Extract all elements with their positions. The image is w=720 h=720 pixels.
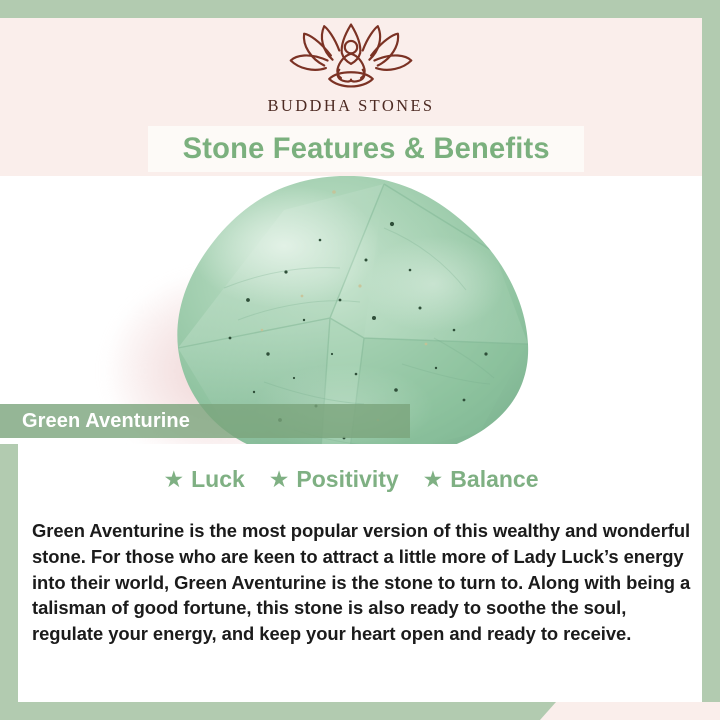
stone-description: Green Aventurine is the most popular ver… bbox=[32, 518, 692, 646]
star-icon: ★ bbox=[269, 468, 290, 491]
brand-wordmark: BUDDHA STONES bbox=[267, 96, 434, 116]
frame-right-accent bbox=[702, 0, 720, 720]
page-title: Stone Features & Benefits bbox=[182, 132, 549, 166]
brand-logo: BUDDHA STONES bbox=[0, 22, 702, 122]
frame-bottom-accent-overlay bbox=[0, 702, 556, 720]
star-icon: ★ bbox=[163, 468, 184, 491]
benefit-label: Balance bbox=[450, 466, 538, 493]
benefit-item-positivity: ★ Positivity bbox=[269, 466, 399, 493]
benefit-label: Positivity bbox=[296, 466, 398, 493]
section-title-band: Stone Features & Benefits bbox=[148, 126, 584, 172]
stone-name: Green Aventurine bbox=[0, 410, 190, 433]
benefit-item-balance: ★ Balance bbox=[423, 466, 539, 493]
star-icon: ★ bbox=[423, 468, 444, 491]
benefit-item-luck: ★ Luck bbox=[163, 466, 244, 493]
stone-name-ribbon: Green Aventurine bbox=[0, 404, 410, 438]
stone-feature-card: BUDDHA STONES Stone Features & Benefits bbox=[0, 0, 720, 720]
benefits-row: ★ Luck ★ Positivity ★ Balance bbox=[0, 466, 702, 493]
frame-top-accent bbox=[0, 0, 720, 18]
lotus-meditation-icon bbox=[266, 22, 436, 94]
benefit-label: Luck bbox=[191, 466, 245, 493]
